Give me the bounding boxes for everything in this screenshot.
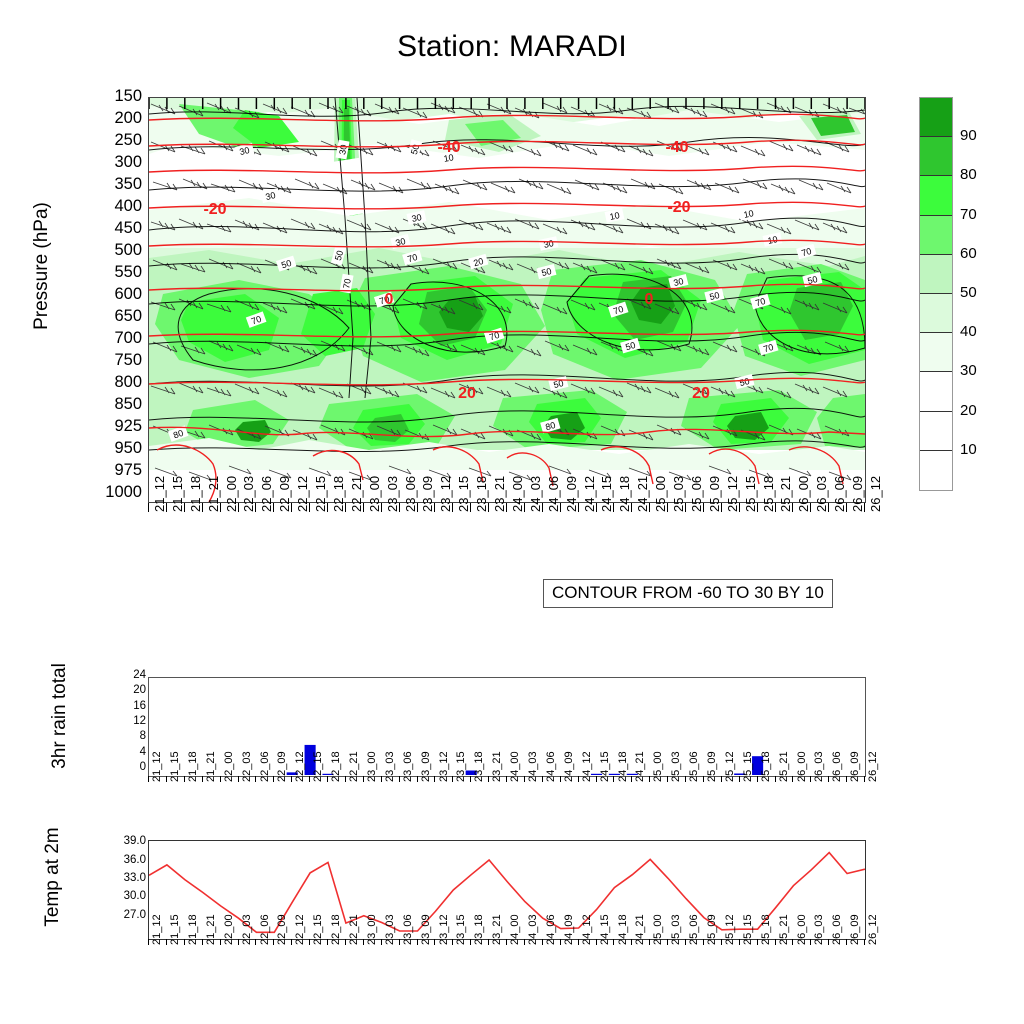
x-tick-mark [649, 776, 650, 782]
main-y-tick: 450 [60, 220, 142, 237]
x-tick-mark [846, 939, 847, 945]
contour-legend-note: CONTOUR FROM -60 TO 30 BY 10 [543, 579, 833, 608]
temp-y-tick-labels: 39.036.033.030.027.0 [96, 833, 146, 949]
x-tick-mark [524, 939, 525, 945]
x-tick-mark [721, 776, 722, 782]
colorbar-label: 60 [960, 245, 977, 262]
x-tick-mark [166, 503, 167, 512]
colorbar-label: 30 [960, 362, 977, 379]
main-y-tick: 850 [60, 396, 142, 413]
x-tick-mark [202, 939, 203, 945]
temp-y-tick: 30.0 [96, 891, 146, 903]
x-tick-mark [184, 776, 185, 782]
x-tick-mark [613, 503, 614, 512]
main-y-tick: 500 [60, 242, 142, 259]
x-tick-mark [685, 939, 686, 945]
x-tick-mark [560, 776, 561, 782]
temp-polyline [149, 853, 865, 933]
svg-text:30: 30 [543, 238, 555, 250]
x-tick-mark [506, 939, 507, 945]
svg-text:20: 20 [458, 385, 476, 402]
x-tick-mark [255, 776, 256, 782]
x-tick-mark [345, 776, 346, 782]
x-tick-mark [363, 939, 364, 945]
x-tick-mark [810, 503, 811, 512]
rain-svg [149, 678, 865, 776]
x-tick-mark [524, 776, 525, 782]
svg-text:-40: -40 [665, 139, 688, 156]
x-tick-mark [273, 776, 274, 782]
main-y-tick: 800 [60, 374, 142, 391]
x-tick-label: 26_12 [868, 751, 879, 782]
x-tick-mark [452, 503, 453, 512]
x-tick-mark [649, 503, 650, 512]
x-tick-mark [721, 939, 722, 945]
x-tick-mark [470, 503, 471, 512]
colorbar-band[interactable] [920, 98, 952, 137]
x-tick-mark [506, 503, 507, 512]
x-tick-mark [399, 503, 400, 512]
x-tick-mark [399, 776, 400, 782]
x-tick-mark [184, 939, 185, 945]
x-tick-mark [631, 776, 632, 782]
rain-y-tick: 12 [110, 716, 146, 728]
x-tick-mark [542, 939, 543, 945]
x-tick-mark [810, 939, 811, 945]
x-tick-mark [488, 776, 489, 782]
main-y-tick: 300 [60, 154, 142, 171]
main-y-axis-title: Pressure (hPa) [31, 146, 53, 386]
colorbar-band[interactable] [920, 216, 952, 255]
x-tick-mark [166, 776, 167, 782]
x-tick-mark [452, 939, 453, 945]
x-tick-mark [560, 939, 561, 945]
x-tick-mark [613, 776, 614, 782]
temp-x-tick-marks [148, 939, 866, 946]
x-tick-mark [667, 776, 668, 782]
main-y-tick: 1000 [60, 484, 142, 501]
page-title: Station: MARADI [0, 30, 1024, 64]
x-tick-mark [184, 503, 185, 512]
main-y-tick: 925 [60, 418, 142, 435]
x-tick-mark [488, 503, 489, 512]
rain-y-tick: 4 [110, 747, 146, 759]
x-tick-mark [327, 776, 328, 782]
humidity-colorbar-labels: 908070605040302010 [960, 97, 1020, 491]
x-tick-mark [864, 776, 865, 782]
svg-text:0: 0 [385, 291, 394, 308]
humidity-colorbar[interactable] [919, 97, 953, 491]
x-tick-mark [417, 776, 418, 782]
temp-svg [149, 841, 865, 939]
x-tick-mark [434, 939, 435, 945]
main-y-tick: 250 [60, 132, 142, 149]
x-tick-mark [345, 503, 346, 512]
x-tick-mark [792, 503, 793, 512]
x-tick-mark [255, 503, 256, 512]
x-tick-mark [291, 776, 292, 782]
temp-y-tick: 33.0 [96, 873, 146, 885]
x-tick-mark [417, 503, 418, 512]
x-tick-mark [327, 503, 328, 512]
x-tick-mark [363, 503, 364, 512]
x-tick-mark [864, 503, 865, 512]
colorbar-band[interactable] [920, 294, 952, 333]
x-tick-mark [488, 939, 489, 945]
x-tick-mark [775, 776, 776, 782]
main-y-tick: 350 [60, 176, 142, 193]
colorbar-band[interactable] [920, 412, 952, 451]
x-tick-mark [775, 939, 776, 945]
x-tick-mark [864, 939, 865, 945]
x-tick-mark [596, 939, 597, 945]
x-tick-mark [846, 776, 847, 782]
main-y-tick: 650 [60, 308, 142, 325]
svg-text:30: 30 [411, 212, 423, 224]
temp-x-tick-labels: 21_1221_1521_1821_2122_0022_0322_0622_09… [148, 945, 866, 1015]
x-tick-mark [255, 939, 256, 945]
main-y-tick: 550 [60, 264, 142, 281]
x-tick-label: 26_12 [868, 914, 879, 945]
x-tick-mark [703, 503, 704, 512]
main-y-tick-labels: 1502002503003504004505005506006507007508… [60, 90, 142, 510]
temp-y-tick: 39.0 [96, 836, 146, 848]
x-tick-mark [703, 939, 704, 945]
x-tick-mark [810, 776, 811, 782]
x-tick-mark [238, 503, 239, 512]
x-tick-mark [828, 939, 829, 945]
x-tick-label: 26_12 [869, 476, 882, 512]
x-tick-mark [542, 503, 543, 512]
colorbar-band[interactable] [920, 451, 952, 490]
colorbar-label: 80 [960, 166, 977, 183]
x-tick-mark [828, 776, 829, 782]
x-tick-mark [470, 939, 471, 945]
x-tick-mark [273, 939, 274, 945]
x-tick-mark [381, 503, 382, 512]
main-y-tick: 400 [60, 198, 142, 215]
x-tick-mark [631, 939, 632, 945]
x-tick-mark [775, 503, 776, 512]
x-tick-mark [792, 776, 793, 782]
x-tick-mark [363, 776, 364, 782]
colorbar-label: 70 [960, 206, 977, 223]
colorbar-band[interactable] [920, 333, 952, 372]
x-tick-mark [596, 503, 597, 512]
svg-text:-20: -20 [667, 199, 690, 216]
x-tick-mark [703, 776, 704, 782]
rain-y-tick: 16 [110, 701, 146, 713]
x-tick-mark [757, 503, 758, 512]
svg-text:10: 10 [743, 208, 755, 220]
sounding-cross-section-plot[interactable]: 30 50 30 10 30 30 30 70 50 50 70 70 70 7… [148, 97, 866, 503]
x-tick-mark [202, 503, 203, 512]
x-tick-mark [578, 503, 579, 512]
rain-bar-chart[interactable] [148, 677, 866, 777]
svg-text:30: 30 [337, 144, 349, 156]
x-tick-mark [309, 776, 310, 782]
x-tick-mark [434, 776, 435, 782]
main-y-tick: 600 [60, 286, 142, 303]
x-tick-mark [542, 776, 543, 782]
x-tick-mark [828, 503, 829, 512]
x-tick-mark [524, 503, 525, 512]
colorbar-band[interactable] [920, 372, 952, 411]
x-tick-mark [631, 503, 632, 512]
temp-y-tick: 27.0 [96, 910, 146, 922]
x-tick-mark [220, 503, 221, 512]
svg-text:-20: -20 [203, 201, 226, 218]
main-y-tick: 975 [60, 462, 142, 479]
x-tick-mark [470, 776, 471, 782]
rain-y-tick: 20 [110, 685, 146, 697]
x-tick-mark [757, 939, 758, 945]
colorbar-band[interactable] [920, 176, 952, 215]
x-tick-mark [739, 939, 740, 945]
x-tick-mark [148, 939, 149, 945]
x-tick-mark [452, 776, 453, 782]
colorbar-band[interactable] [920, 255, 952, 294]
svg-text:20: 20 [692, 385, 710, 402]
main-y-tick: 200 [60, 110, 142, 127]
x-tick-mark [291, 939, 292, 945]
x-tick-mark [506, 776, 507, 782]
rain-x-tick-marks [148, 776, 866, 783]
x-tick-mark [148, 776, 149, 782]
x-tick-mark [739, 776, 740, 782]
x-tick-mark [381, 939, 382, 945]
sounding-svg: 30 50 30 10 30 30 30 70 50 50 70 70 70 7… [149, 98, 865, 502]
x-tick-mark [166, 939, 167, 945]
x-tick-mark [596, 776, 597, 782]
x-tick-mark [667, 939, 668, 945]
x-tick-mark [685, 503, 686, 512]
x-tick-mark [649, 939, 650, 945]
colorbar-band[interactable] [920, 137, 952, 176]
rain-y-tick-labels: 24201612840 [110, 670, 146, 786]
x-tick-mark [792, 939, 793, 945]
temp-y-axis-title: Temp at 2m [42, 792, 64, 962]
x-tick-mark [202, 776, 203, 782]
x-tick-mark [381, 776, 382, 782]
x-tick-mark [148, 503, 149, 512]
rain-y-tick: 0 [110, 762, 146, 774]
x-tick-mark [327, 939, 328, 945]
x-tick-mark [309, 939, 310, 945]
x-tick-mark [345, 939, 346, 945]
x-tick-mark [399, 939, 400, 945]
main-x-tick-marks [148, 503, 866, 513]
x-tick-mark [417, 939, 418, 945]
x-tick-mark [273, 503, 274, 512]
main-y-tick: 700 [60, 330, 142, 347]
main-x-tick-labels: 21_1221_1521_1821_2122_0022_0322_0622_09… [148, 512, 866, 582]
x-tick-mark [434, 503, 435, 512]
svg-text:-40: -40 [437, 139, 460, 156]
x-tick-mark [739, 503, 740, 512]
main-y-tick: 150 [60, 88, 142, 105]
x-tick-mark [757, 776, 758, 782]
colorbar-label: 20 [960, 402, 977, 419]
x-tick-mark [238, 939, 239, 945]
x-tick-mark [578, 939, 579, 945]
x-tick-mark [220, 776, 221, 782]
x-tick-mark [685, 776, 686, 782]
x-tick-mark [309, 503, 310, 512]
x-tick-mark [220, 939, 221, 945]
x-tick-mark [578, 776, 579, 782]
temperature-line-chart[interactable] [148, 840, 866, 940]
x-tick-mark [613, 939, 614, 945]
svg-text:70: 70 [341, 278, 353, 290]
main-y-tick: 950 [60, 440, 142, 457]
colorbar-label: 10 [960, 441, 977, 458]
svg-text:10: 10 [609, 210, 621, 222]
svg-text:0: 0 [645, 291, 654, 308]
x-tick-mark [721, 503, 722, 512]
main-y-tick: 750 [60, 352, 142, 369]
rain-y-axis-title: 3hr rain total [49, 636, 71, 796]
x-tick-mark [667, 503, 668, 512]
x-tick-mark [846, 503, 847, 512]
x-tick-mark [560, 503, 561, 512]
colorbar-label: 50 [960, 284, 977, 301]
x-tick-mark [291, 503, 292, 512]
x-tick-mark [238, 776, 239, 782]
rain-y-tick: 8 [110, 731, 146, 743]
rain-y-tick: 24 [110, 670, 146, 682]
colorbar-label: 90 [960, 127, 977, 144]
colorbar-label: 40 [960, 323, 977, 340]
temp-y-tick: 36.0 [96, 855, 146, 867]
